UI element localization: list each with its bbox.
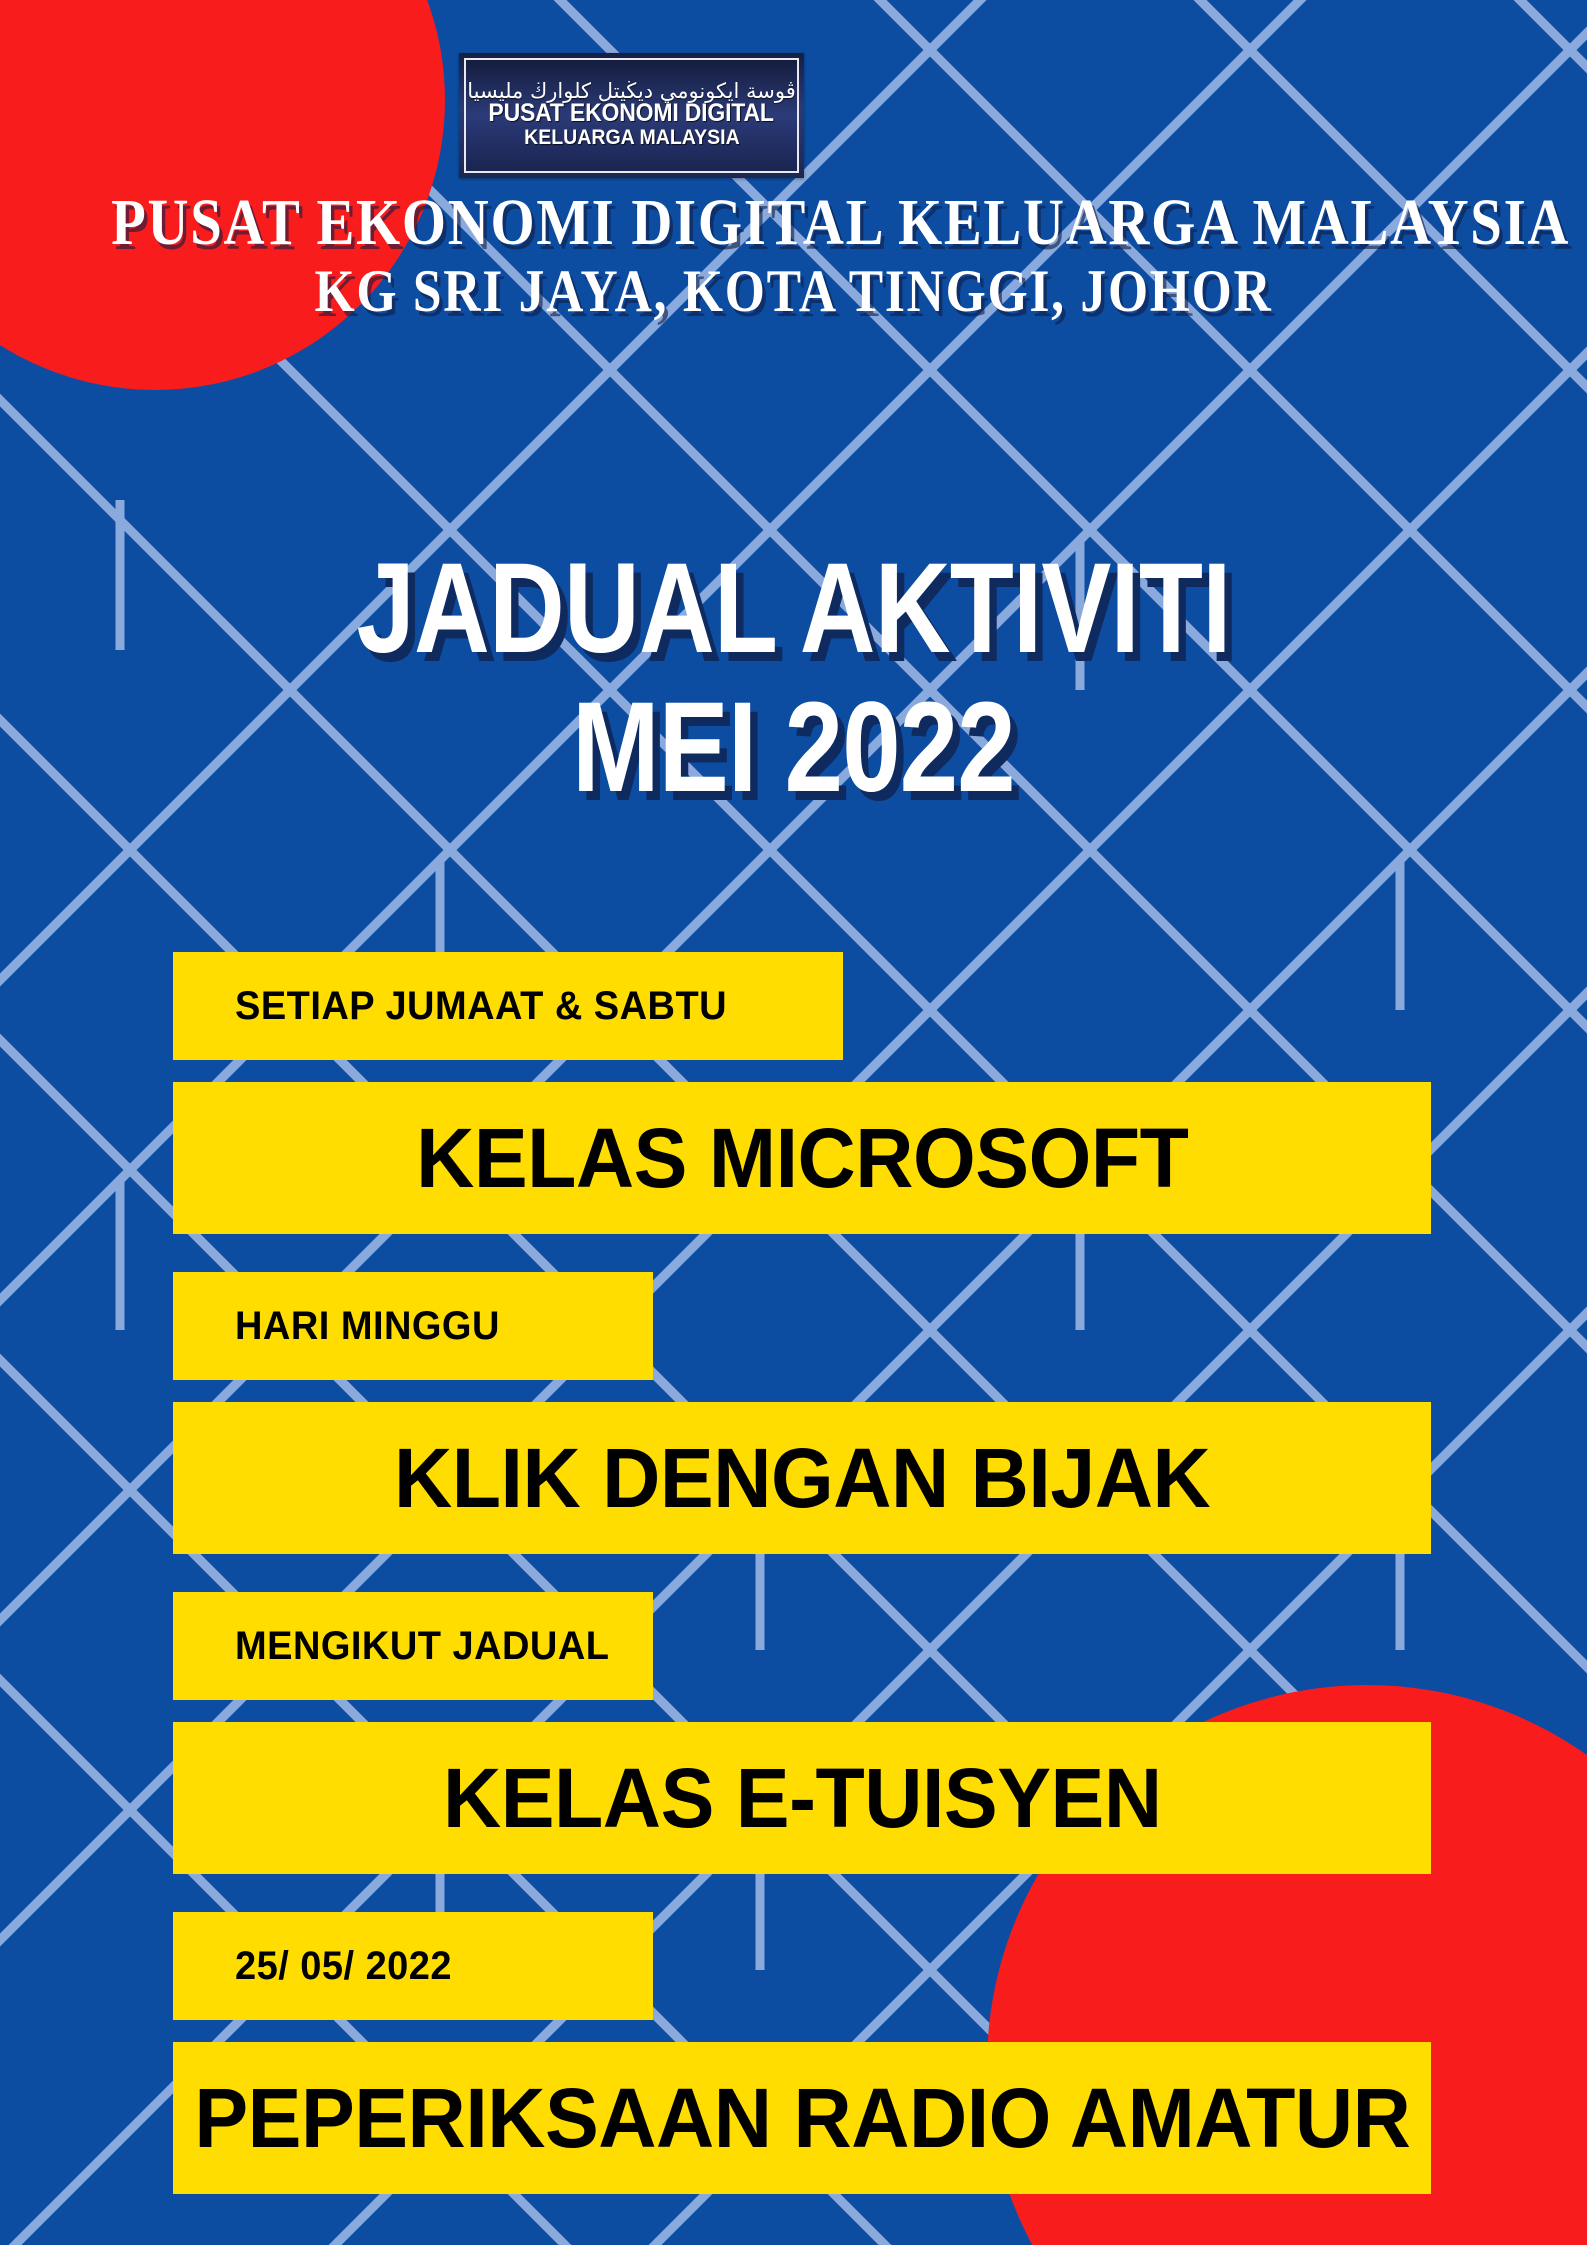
schedule-tag-badge: 25/ 05/ 2022 bbox=[173, 1912, 653, 2020]
schedule-tag-label: HARI MINGGU bbox=[235, 1304, 500, 1349]
schedule-event-label: PEPERIKSAAN RADIO AMATUR bbox=[194, 2070, 1410, 2167]
schedule-event-label: KLIK DENGAN BIJAK bbox=[394, 1430, 1210, 1527]
schedule-event-box: PEPERIKSAAN RADIO AMATUR bbox=[173, 2042, 1431, 2194]
schedule-tag-label: MENGIKUT JADUAL bbox=[235, 1624, 609, 1669]
poster-canvas: ڤوسة ايكونومي ديڬيتل كلوارڬ مليسيا PUSAT… bbox=[0, 0, 1587, 2245]
page-title: JADUAL AKTIVITI MEI 2022 bbox=[0, 545, 1587, 815]
schedule-event-label: KELAS E-TUISYEN bbox=[443, 1750, 1162, 1847]
logo-title-line-2: KELUARGA MALAYSIA bbox=[524, 127, 740, 149]
schedule-event-box: KELAS MICROSOFT bbox=[173, 1082, 1431, 1234]
schedule-spacer bbox=[0, 1874, 1587, 1912]
organization-location: KG SRI JAYA, KOTA TINGGI, JOHOR bbox=[111, 260, 1476, 323]
schedule-entry: MENGIKUT JADUAL KELAS E-TUISYEN bbox=[0, 1592, 1587, 1874]
schedule-tag-badge: SETIAP JUMAAT & SABTU bbox=[173, 952, 843, 1060]
schedule-entry: SETIAP JUMAAT & SABTU KELAS MICROSOFT bbox=[0, 952, 1587, 1234]
schedule-event-box: KLIK DENGAN BIJAK bbox=[173, 1402, 1431, 1554]
organization-heading: PUSAT EKONOMI DIGITAL KELUARGA MALAYSIA … bbox=[0, 190, 1587, 323]
schedule-entry: 25/ 05/ 2022 PEPERIKSAAN RADIO AMATUR bbox=[0, 1912, 1587, 2194]
ped-logo-plaque: ڤوسة ايكونومي ديڬيتل كلوارڬ مليسيا PUSAT… bbox=[459, 53, 804, 178]
schedule-spacer bbox=[0, 1554, 1587, 1592]
schedule-entry: HARI MINGGU KLIK DENGAN BIJAK bbox=[0, 1272, 1587, 1554]
organization-name: PUSAT EKONOMI DIGITAL KELUARGA MALAYSIA bbox=[111, 190, 1476, 256]
logo-title-line-1: PUSAT EKONOMI DIGITAL bbox=[489, 101, 774, 126]
schedule-tag-label: 25/ 05/ 2022 bbox=[235, 1944, 452, 1989]
schedule-tag-label: SETIAP JUMAAT & SABTU bbox=[235, 984, 727, 1029]
schedule-tag-badge: MENGIKUT JADUAL bbox=[173, 1592, 653, 1700]
schedule-tag-badge: HARI MINGGU bbox=[173, 1272, 653, 1380]
schedule-event-box: KELAS E-TUISYEN bbox=[173, 1722, 1431, 1874]
page-title-line-1: JADUAL AKTIVITI bbox=[143, 545, 1444, 673]
activity-schedule-list: SETIAP JUMAAT & SABTU KELAS MICROSOFT HA… bbox=[0, 952, 1587, 2194]
schedule-event-label: KELAS MICROSOFT bbox=[416, 1110, 1188, 1207]
logo-inner-frame: ڤوسة ايكونومي ديڬيتل كلوارڬ مليسيا PUSAT… bbox=[464, 58, 799, 173]
schedule-spacer bbox=[0, 1234, 1587, 1272]
page-title-line-2: MEI 2022 bbox=[143, 681, 1444, 815]
